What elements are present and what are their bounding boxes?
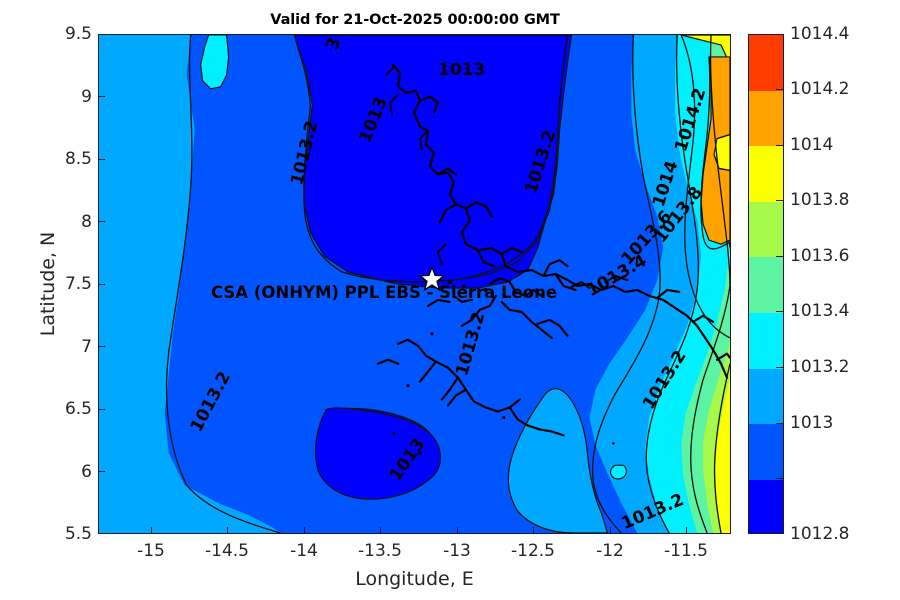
colorbar[interactable] xyxy=(748,34,784,534)
y-tick-6: 6 xyxy=(46,462,92,482)
cbar-tick-1014: 1014 xyxy=(790,135,833,155)
x-tick-m12p5: -12.5 xyxy=(498,541,568,561)
x-tick-m12: -12 xyxy=(575,541,645,561)
x-axis-ticks: -15 -14.5 -14 -13.5 -13 -12.5 -12 -11.5 xyxy=(98,541,731,567)
band-1012p8-lobe xyxy=(294,35,567,282)
colorbar-band-1014p2 xyxy=(749,91,783,147)
page-title: Valid for 21-Oct-2025 00:00:00 GMT xyxy=(98,12,732,28)
x-tick-m13: -13 xyxy=(422,541,492,561)
colorbar-band-1013 xyxy=(749,424,783,480)
x-tick-m13p5: -13.5 xyxy=(345,541,415,561)
x-tick-m15: -15 xyxy=(116,541,186,561)
cbar-tick-1013: 1013 xyxy=(790,413,833,433)
colorbar-band-1012p8 xyxy=(749,480,783,534)
figure-root: Valid for 21-Oct-2025 00:00:00 GMT xyxy=(0,0,900,600)
y-tick-9p5: 9.5 xyxy=(46,24,92,44)
cbar-tick-1012p8: 1012.8 xyxy=(790,524,849,544)
contour-label-1013-north: 1013 xyxy=(438,60,485,80)
cbar-tick-1014p4: 1014.4 xyxy=(790,24,849,44)
colorbar-label-box: Surface Pressure, mb xyxy=(858,34,888,534)
y-axis-label: Latitude, N xyxy=(37,164,59,404)
band-1013p4-island xyxy=(611,465,627,479)
cbar-tick-1013p2: 1013.2 xyxy=(790,357,849,377)
y-tick-9: 9 xyxy=(46,87,92,107)
y-axis-label-box: Latitude, N xyxy=(8,34,32,534)
x-axis-label: Longitude, E xyxy=(98,568,731,590)
micro-dot xyxy=(612,442,615,445)
site-annotation-label: CSA (ONHYM) PPL EBS - Sierra Leone xyxy=(211,283,557,302)
colorbar-band-1014 xyxy=(749,146,783,202)
x-tick-m14p5: -14.5 xyxy=(192,541,262,561)
cbar-tick-1013p8: 1013.8 xyxy=(790,190,849,210)
x-tick-m11p5: -11.5 xyxy=(651,541,721,561)
x-tick-m14: -14 xyxy=(269,541,339,561)
cbar-tick-1014p2: 1014.2 xyxy=(790,79,849,99)
colorbar-band-1013p4 xyxy=(749,313,783,369)
cbar-tick-1013p4: 1013.4 xyxy=(790,301,849,321)
colorbar-band-1013p8 xyxy=(749,202,783,258)
colorbar-band-1013p6 xyxy=(749,257,783,313)
y-tick-5p5: 5.5 xyxy=(46,524,92,544)
cbar-tick-1013p6: 1013.6 xyxy=(790,246,849,266)
colorbar-band-1014p4 xyxy=(749,35,783,91)
colorbar-band-1013p2 xyxy=(749,369,783,425)
